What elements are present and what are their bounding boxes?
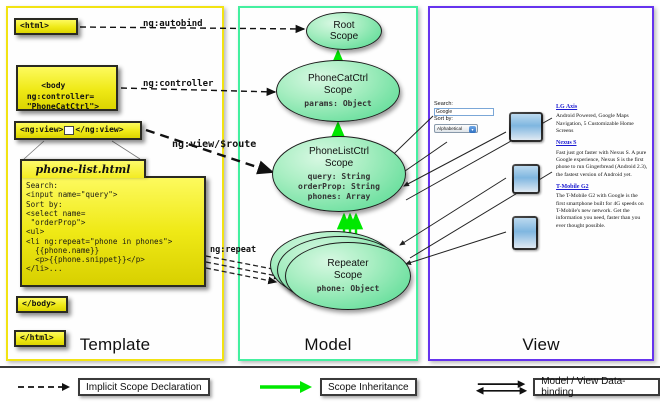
ng-view-open-text: <ng:view> [20, 125, 63, 135]
phone-thumbnail-3-body [512, 216, 538, 250]
phone-thumbnail-2 [512, 164, 540, 194]
list-item: LG Axis Android Powered, Google Maps Nav… [556, 104, 648, 135]
search-input[interactable]: Google [434, 108, 494, 116]
body-close-tag-box: </body> [16, 296, 68, 313]
scope-root-title-line2: Scope [330, 31, 358, 42]
ng-view-tag-box: <ng:view></ng:view> [14, 121, 142, 140]
phone-list-callout-body: Search: <input name="query"> Sort by: <s… [20, 176, 206, 287]
list-item: T-Mobile G2 The T-Mobile G2 with Google … [556, 184, 648, 230]
legend-item-scope-inheritance: Scope Inheritance [258, 378, 417, 396]
connector-label-autobind: ng:autobind [143, 19, 203, 29]
phone-list-callout-tab: phone-list.html [20, 159, 146, 178]
phone-thumbnail-3-screen [514, 218, 536, 248]
connector-label-ngview-route: ng:view/$route [172, 139, 256, 150]
phone-snippet: Fast just got faster with Nexus S. A pur… [556, 150, 648, 180]
scope-phonelistctrl-title: PhoneListCtrl Scope [309, 146, 369, 168]
ng-view-close-text: </ng:view> [75, 125, 123, 135]
sort-select[interactable]: Alphabetical ▾ [434, 124, 478, 133]
scope-repeater-title-line1: Repeater [327, 258, 368, 269]
scope-phonelistctrl: PhoneListCtrl Scope query: String orderP… [272, 136, 406, 212]
legend: Implicit Scope Declaration Scope Inherit… [0, 366, 660, 405]
phone-name-link[interactable]: Nexus S [556, 140, 648, 147]
phone-thumbnail-1-screen [511, 114, 541, 140]
connector-label-controller: ng:controller [143, 79, 213, 89]
phone-thumbnail-2-body [512, 164, 540, 194]
scope-root: Root Scope [306, 12, 382, 50]
phone-list-filename: phone-list.html [36, 163, 131, 176]
search-label: Search: [434, 101, 498, 108]
scope-root-title-line1: Root [333, 20, 354, 31]
phone-thumbnail-3 [512, 216, 538, 250]
phone-name-link[interactable]: T-Mobile G2 [556, 184, 648, 191]
dashed-arrow-icon [16, 378, 72, 396]
html-close-tag-box: </html> [14, 330, 66, 347]
scope-phonecatctrl-title-line2: Scope [324, 85, 352, 96]
panel-view-label: View [430, 335, 652, 355]
phone-list: LG Axis Android Powered, Google Maps Nav… [556, 104, 648, 235]
html-open-tag-text: <html> [20, 21, 49, 31]
scope-phonelistctrl-title-line2: Scope [325, 158, 353, 169]
double-arrow-icon [474, 378, 527, 396]
scope-repeater-props: phone: Object [317, 284, 380, 294]
phone-list-callout: Search: <input name="query"> Sort by: <s… [20, 159, 206, 287]
phone-thumbnail-1-body [509, 112, 543, 142]
body-open-tag-text: <body ng:controller= "PhoneCatCtrl"> [22, 81, 99, 111]
view-search-form: Search: Google Sort by: Alphabetical ▾ [434, 101, 498, 133]
legend-item-data-binding: Model / View Data-binding [474, 378, 660, 396]
scope-phonelistctrl-title-line1: PhoneListCtrl [309, 146, 369, 157]
html-close-tag-text: </html> [20, 333, 54, 343]
phone-thumbnail-2-screen [514, 166, 538, 192]
html-open-tag-box: <html> [14, 18, 78, 35]
chevron-down-icon: ▾ [469, 126, 476, 133]
scope-root-title: Root Scope [330, 20, 358, 42]
scope-phonelistctrl-props: query: String orderProp: String phones: … [298, 172, 380, 202]
body-open-tag-box: <body ng:controller= "PhoneCatCtrl"> [16, 65, 118, 111]
phone-list-code: Search: <input name="query"> Sort by: <s… [26, 181, 200, 274]
scope-phonecatctrl: PhoneCatCtrl Scope params: Object [276, 60, 400, 122]
scope-repeater-title-line2: Scope [334, 270, 362, 281]
sort-select-value: Alphabetical [437, 126, 462, 131]
phone-name-link[interactable]: LG Axis [556, 104, 648, 111]
ng-view-placeholder-icon [64, 126, 74, 135]
scope-phonecatctrl-title: PhoneCatCtrl Scope [308, 73, 368, 95]
scope-phonecatctrl-title-line1: PhoneCatCtrl [308, 73, 368, 84]
body-close-tag-text: </body> [22, 299, 56, 309]
scope-repeater-title: Repeater Scope [327, 258, 368, 280]
list-item: Nexus S Fast just got faster with Nexus … [556, 140, 648, 179]
scope-phonecatctrl-props: params: Object [304, 99, 371, 109]
legend-item-implicit-scope: Implicit Scope Declaration [16, 378, 210, 396]
panel-model-label: Model [240, 335, 416, 355]
scope-repeater: Repeater Scope phone: Object [285, 242, 411, 310]
legend-label-data-binding: Model / View Data-binding [533, 378, 660, 396]
connector-label-ngrepeat: ng:repeat [210, 245, 256, 255]
phone-thumbnail-1 [509, 112, 543, 142]
phone-snippet: Android Powered, Google Maps Navigation,… [556, 113, 648, 135]
phone-snippet: The T-Mobile G2 with Google is the first… [556, 193, 648, 230]
green-arrow-icon [258, 378, 314, 396]
legend-label-scope-inheritance: Scope Inheritance [320, 378, 417, 396]
diagram-canvas: Template Model View [0, 0, 660, 405]
sort-label: Sort by: [434, 116, 498, 123]
legend-label-implicit-scope: Implicit Scope Declaration [78, 378, 210, 396]
